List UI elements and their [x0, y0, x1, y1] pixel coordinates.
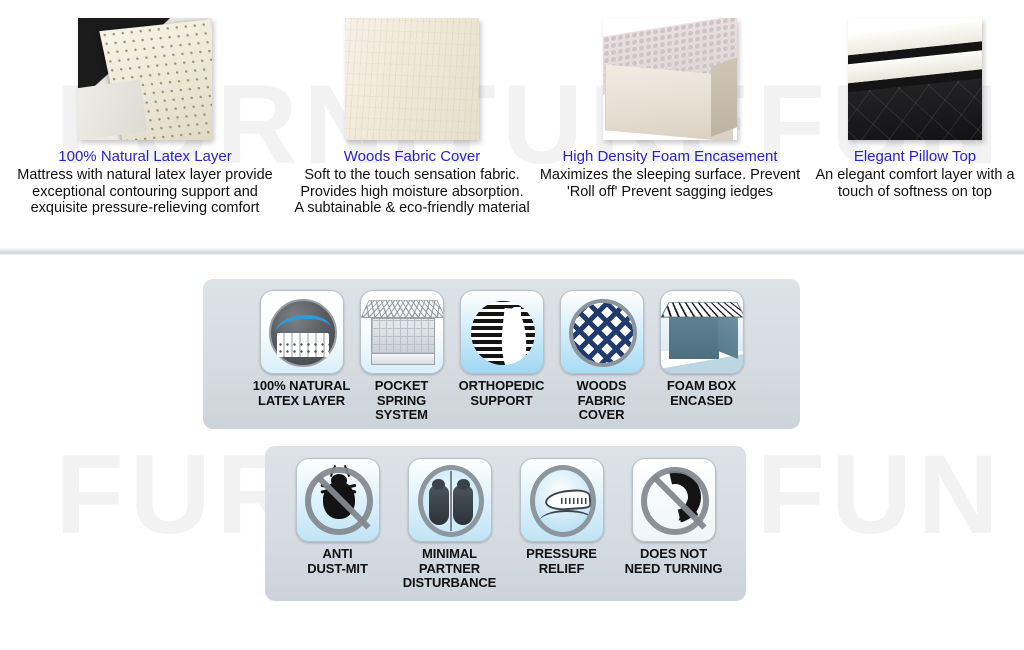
badge-pocket-spring: POCKET SPRING SYSTEM: [352, 290, 452, 423]
latex-layer-icon: [260, 290, 344, 374]
anti-dust-mite-icon: [296, 458, 380, 542]
badge-pressure-relief: PRESSURE RELIEF: [506, 458, 618, 576]
badge-no-turning: DOES NOT NEED TURNING: [618, 458, 730, 576]
feature-title: Elegant Pillow Top: [806, 148, 1024, 166]
badge-latex-layer: 100% NATURAL LATEX LAYER: [252, 290, 352, 408]
feature-card-pillow-top: Elegant Pillow Top An elegant comfort la…: [806, 0, 1024, 200]
badge-label: FOAM BOX ENCASED: [652, 379, 752, 408]
feature-description: Mattress with natural latex layer provid…: [0, 167, 290, 217]
partner-disturbance-icon: [408, 458, 492, 542]
badge-label: PRESSURE RELIEF: [506, 547, 618, 576]
badge-label: POCKET SPRING SYSTEM: [352, 379, 452, 423]
feature-description: Soft to the touch sensation fabric. Prov…: [290, 167, 534, 217]
feature-description: An elegant comfort layer with a touch of…: [806, 167, 1024, 200]
feature-title: Woods Fabric Cover: [290, 148, 534, 166]
badge-woods-fabric-cover: WOODS FABRIC COVER: [552, 290, 652, 423]
woods-fabric-icon: [560, 290, 644, 374]
materials-badge-panel: 100% NATURAL LATEX LAYER POCKET SPRING S…: [203, 279, 800, 429]
high-density-foam-photo: [603, 18, 737, 140]
badge-orthopedic-support: ORTHOPEDIC SUPPORT: [452, 290, 552, 408]
feature-title: 100% Natural Latex Layer: [0, 148, 290, 166]
badge-anti-dust-mite: ANTI DUST-MIT: [282, 458, 394, 576]
badge-label: ANTI DUST-MIT: [282, 547, 394, 576]
woods-fabric-photo: [345, 18, 479, 140]
badge-label: MINIMAL PARTNER DISTURBANCE: [394, 547, 506, 591]
orthopedic-support-icon: [460, 290, 544, 374]
no-turning-icon: [632, 458, 716, 542]
badge-foam-box-encased: FOAM BOX ENCASED: [652, 290, 752, 408]
pocket-spring-icon: [360, 290, 444, 374]
section-divider: [0, 247, 1024, 255]
mattress-feature-infographic: FURNITUREFUN FURNITUREFUN 100% Natural L…: [0, 0, 1024, 650]
feature-strip: 100% Natural Latex Layer Mattress with n…: [0, 0, 1024, 248]
badge-label: WOODS FABRIC COVER: [552, 379, 652, 423]
benefits-badge-panel: ANTI DUST-MIT MINIMAL PARTNER DISTURBANC…: [265, 446, 746, 601]
badge-label: 100% NATURAL LATEX LAYER: [252, 379, 352, 408]
latex-layer-photo: [78, 18, 212, 140]
foam-box-icon: [660, 290, 744, 374]
feature-card-woods-fabric: Woods Fabric Cover Soft to the touch sen…: [290, 0, 534, 217]
feature-card-high-density-foam: High Density Foam Encasement Maximizes t…: [534, 0, 806, 200]
pillow-top-photo: [848, 18, 982, 140]
badge-label: ORTHOPEDIC SUPPORT: [452, 379, 552, 408]
badge-partner-disturbance: MINIMAL PARTNER DISTURBANCE: [394, 458, 506, 591]
pressure-relief-icon: [520, 458, 604, 542]
feature-title: High Density Foam Encasement: [534, 148, 806, 166]
feature-description: Maximizes the sleeping surface. Prevent …: [534, 167, 806, 200]
badge-label: DOES NOT NEED TURNING: [618, 547, 730, 576]
feature-card-latex-layer: 100% Natural Latex Layer Mattress with n…: [0, 0, 290, 217]
